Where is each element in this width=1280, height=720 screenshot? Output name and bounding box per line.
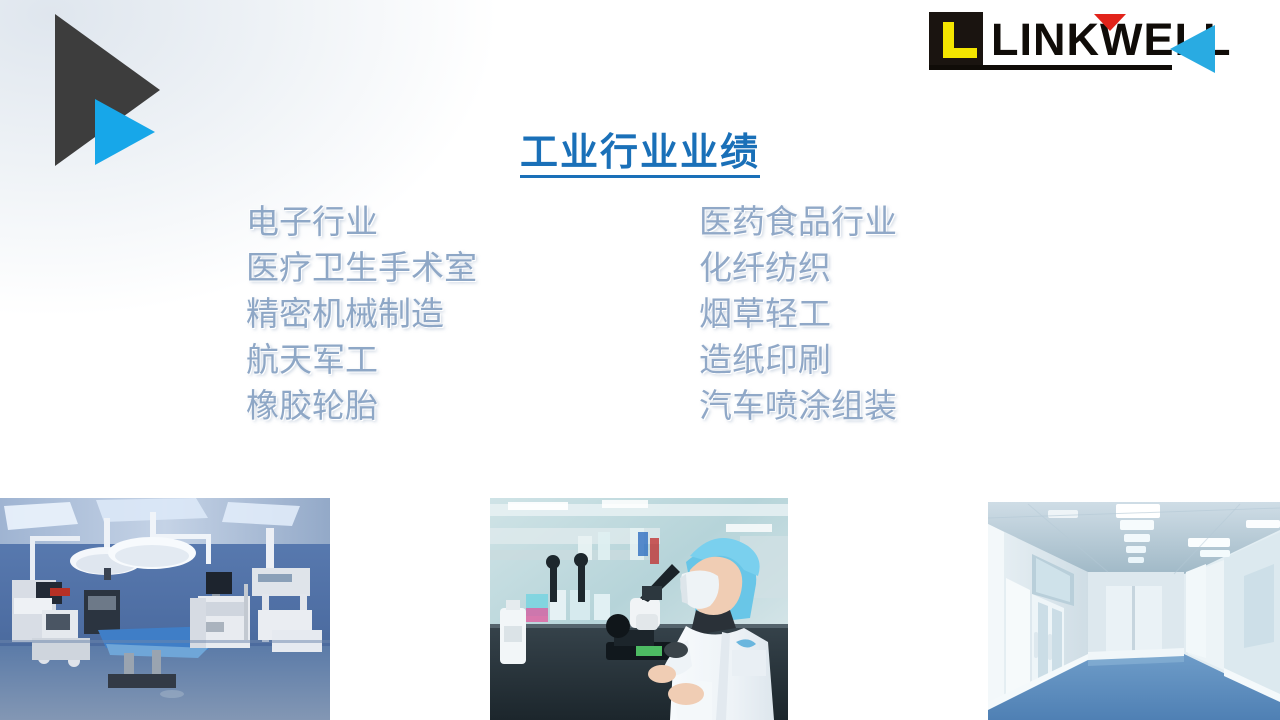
linkwell-logo: LINKWELL: [925, 12, 1230, 74]
list-item: 医药食品行业: [699, 199, 897, 245]
page-title: 工业行业业绩: [0, 121, 1280, 176]
list-item: 汽车喷涂组装: [699, 383, 897, 429]
industry-list-right: 医药食品行业 化纤纺织 烟草轻工 造纸印刷 汽车喷涂组装: [699, 199, 897, 429]
logo-underline-rule: [929, 65, 1172, 70]
cleanroom-corridor-photo: [988, 502, 1280, 720]
list-item: 精密机械制造: [246, 291, 477, 337]
operating-room-photo: [0, 498, 330, 720]
page-title-text: 工业行业业绩: [520, 130, 760, 178]
logo-letter-l-foot: [943, 48, 977, 58]
list-item: 化纤纺织: [699, 245, 897, 291]
industry-list-container: 电子行业 医疗卫生手术室 精密机械制造 航天军工 橡胶轮胎 医药食品行业 化纤纺…: [246, 199, 1006, 429]
list-item: 烟草轻工: [699, 291, 897, 337]
list-item: 航天军工: [246, 337, 477, 383]
list-item: 橡胶轮胎: [246, 383, 477, 429]
industry-list-left: 电子行业 医疗卫生手术室 精密机械制造 航天军工 橡胶轮胎: [246, 199, 477, 429]
list-item: 造纸印刷: [699, 337, 897, 383]
logo-badge-square: [929, 12, 983, 67]
blue-triangle-icon: [1170, 25, 1215, 73]
list-item: 医疗卫生手术室: [246, 245, 477, 291]
laboratory-microscope-photo: [490, 498, 788, 720]
list-item: 电子行业: [246, 199, 477, 245]
red-triangle-icon: [1094, 14, 1126, 31]
presentation-slide: LINKWELL 工业行业业绩 电子行业 医疗卫生手术室 精密机械制造 航天军工…: [0, 0, 1280, 720]
